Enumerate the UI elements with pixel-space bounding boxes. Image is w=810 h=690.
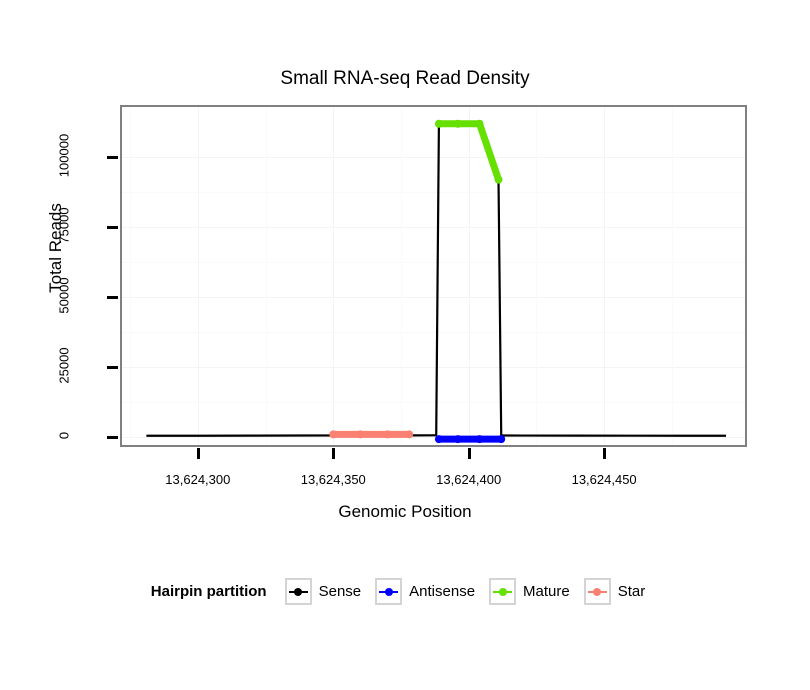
chart-legend: Hairpin partition SenseAntisenseMatureSt… xyxy=(0,578,810,605)
series-point-mature xyxy=(454,120,462,128)
legend-label: Mature xyxy=(523,583,570,600)
series-point-mature xyxy=(435,120,443,128)
legend-label: Antisense xyxy=(409,583,475,600)
legend-entries: SenseAntisenseMatureStar xyxy=(285,578,660,605)
series-point-star xyxy=(405,430,413,438)
series-layer xyxy=(122,107,745,445)
y-tick-label: 0 xyxy=(57,395,72,475)
y-tick-mark xyxy=(107,156,118,159)
y-tick-mark xyxy=(107,436,118,439)
y-tick-mark xyxy=(107,296,118,299)
plot-panel xyxy=(120,105,747,447)
legend-item-antisense[interactable]: Antisense xyxy=(375,578,475,605)
series-point-star xyxy=(329,430,337,438)
legend-item-star[interactable]: Star xyxy=(584,578,646,605)
series-point-antisense xyxy=(476,435,484,443)
legend-key-dot xyxy=(593,588,601,596)
y-tick-label: 50000 xyxy=(57,255,72,335)
legend-label: Sense xyxy=(319,583,362,600)
legend-key-sense-icon xyxy=(285,578,312,605)
chart-root: Small RNA-seq Read Density Total Reads 0… xyxy=(0,0,810,690)
y-tick-label: 75000 xyxy=(57,186,72,266)
legend-key-dot xyxy=(294,588,302,596)
x-tick-label: 13,624,300 xyxy=(128,472,268,487)
legend-key-mature-icon xyxy=(489,578,516,605)
x-tick-mark xyxy=(332,448,335,459)
x-tick-mark xyxy=(197,448,200,459)
x-tick-mark xyxy=(603,448,606,459)
y-tick-label: 25000 xyxy=(57,325,72,405)
legend-title: Hairpin partition xyxy=(151,583,267,600)
x-tick-label: 13,624,350 xyxy=(263,472,403,487)
legend-key-star-icon xyxy=(584,578,611,605)
series-point-antisense xyxy=(497,435,505,443)
series-point-antisense xyxy=(435,435,443,443)
legend-key-antisense-icon xyxy=(375,578,402,605)
legend-item-mature[interactable]: Mature xyxy=(489,578,570,605)
series-line-sense xyxy=(146,124,726,436)
y-tick-mark xyxy=(107,366,118,369)
y-tick-mark xyxy=(107,226,118,229)
y-tick-label: 100000 xyxy=(57,116,72,196)
legend-label: Star xyxy=(618,583,646,600)
series-point-mature xyxy=(495,176,503,184)
legend-key-dot xyxy=(385,588,393,596)
x-axis-title: Genomic Position xyxy=(0,502,810,522)
legend-item-sense[interactable]: Sense xyxy=(285,578,362,605)
series-point-star xyxy=(356,430,364,438)
series-line-mature xyxy=(439,124,499,180)
series-point-star xyxy=(383,430,391,438)
series-point-antisense xyxy=(454,435,462,443)
legend-key-dot xyxy=(499,588,507,596)
series-point-mature xyxy=(476,120,484,128)
x-tick-label: 13,624,400 xyxy=(399,472,539,487)
x-tick-mark xyxy=(468,448,471,459)
chart-title: Small RNA-seq Read Density xyxy=(0,68,810,90)
x-tick-label: 13,624,450 xyxy=(534,472,674,487)
